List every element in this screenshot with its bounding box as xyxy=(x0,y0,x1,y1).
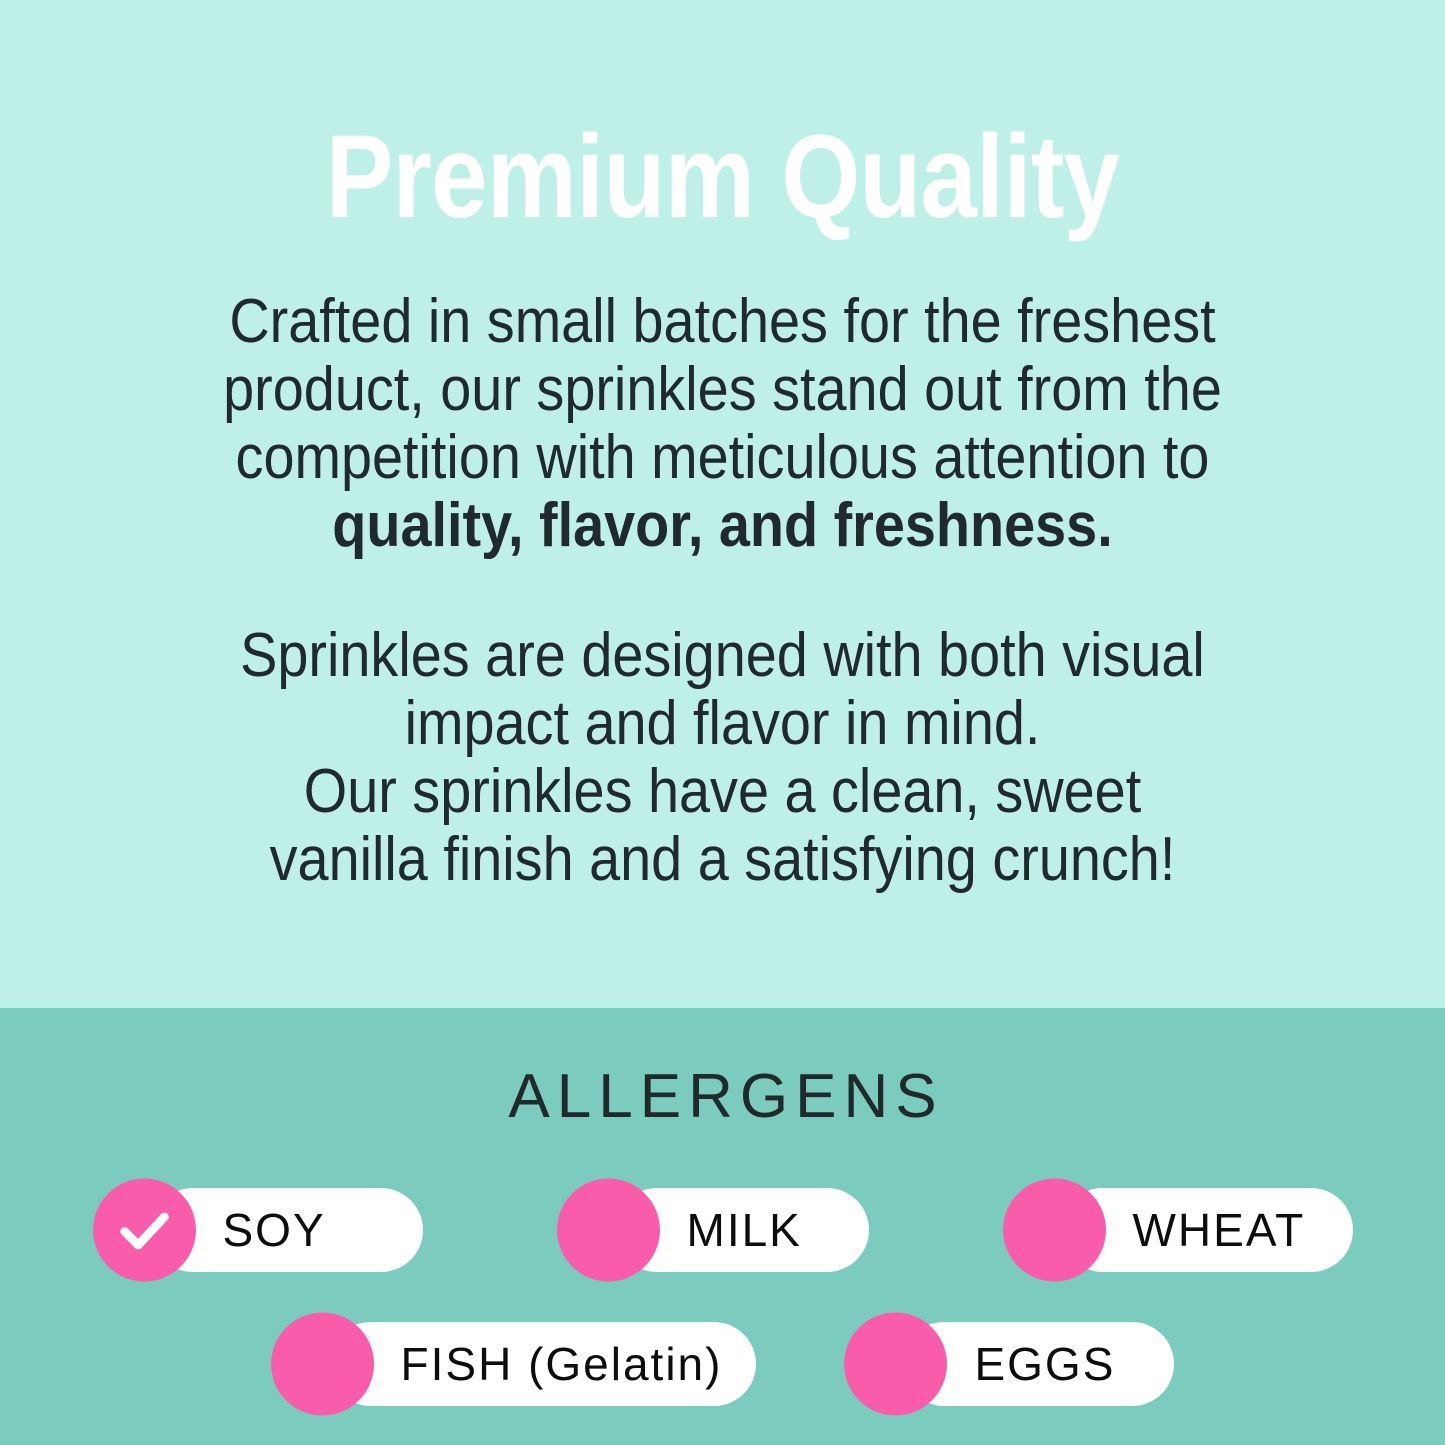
description-paragraph-1: Crafted in small batches for the freshes… xyxy=(72,288,1373,560)
allergen-row: FISH (Gelatin) EGGS xyxy=(0,1302,1445,1426)
check-icon xyxy=(93,1179,196,1282)
product-info-graphic: Premium Quality Crafted in small batches… xyxy=(0,0,1445,1445)
paragraph-1-line: product, our sprinkles stand out from th… xyxy=(72,356,1373,424)
allergen-pill-body: FISH (Gelatin) xyxy=(329,1322,757,1406)
allergens-section: ALLERGENS SOY MILK xyxy=(0,1008,1445,1445)
paragraph-2-line: Sprinkles are designed with both visual xyxy=(72,622,1373,690)
dot-icon xyxy=(271,1313,374,1416)
paragraph-2-line: vanilla finish and a satisfying crunch! xyxy=(72,826,1373,894)
paragraph-1-emphasis: quality, flavor, and freshness. xyxy=(72,492,1373,560)
allergens-heading: ALLERGENS xyxy=(0,1065,1445,1129)
paragraph-1-line: competition with meticulous attention to xyxy=(72,424,1373,492)
allergen-pill-fish[interactable]: FISH (Gelatin) xyxy=(271,1322,757,1406)
paragraph-1-line: Crafted in small batches for the freshes… xyxy=(72,288,1373,356)
allergen-pill-wheat[interactable]: WHEAT xyxy=(1003,1188,1353,1272)
allergen-label: FISH (Gelatin) xyxy=(329,1341,757,1387)
allergen-pill-eggs[interactable]: EGGS xyxy=(844,1322,1174,1406)
dot-icon xyxy=(557,1179,660,1282)
paragraph-2-line: Our sprinkles have a clean, sweet xyxy=(72,758,1373,826)
allergen-pill-milk[interactable]: MILK xyxy=(557,1188,869,1272)
allergen-pill-list: SOY MILK WHEAT xyxy=(0,1168,1445,1426)
premium-quality-section: Premium Quality Crafted in small batches… xyxy=(0,0,1445,1008)
dot-icon xyxy=(844,1313,947,1416)
allergen-row: SOY MILK WHEAT xyxy=(0,1168,1445,1292)
paragraph-2-line: impact and flavor in mind. xyxy=(72,690,1373,758)
description-paragraph-2: Sprinkles are designed with both visual … xyxy=(72,622,1373,894)
allergen-pill-soy[interactable]: SOY xyxy=(93,1188,423,1272)
dot-icon xyxy=(1003,1179,1106,1282)
page-title: Premium Quality xyxy=(101,118,1344,236)
